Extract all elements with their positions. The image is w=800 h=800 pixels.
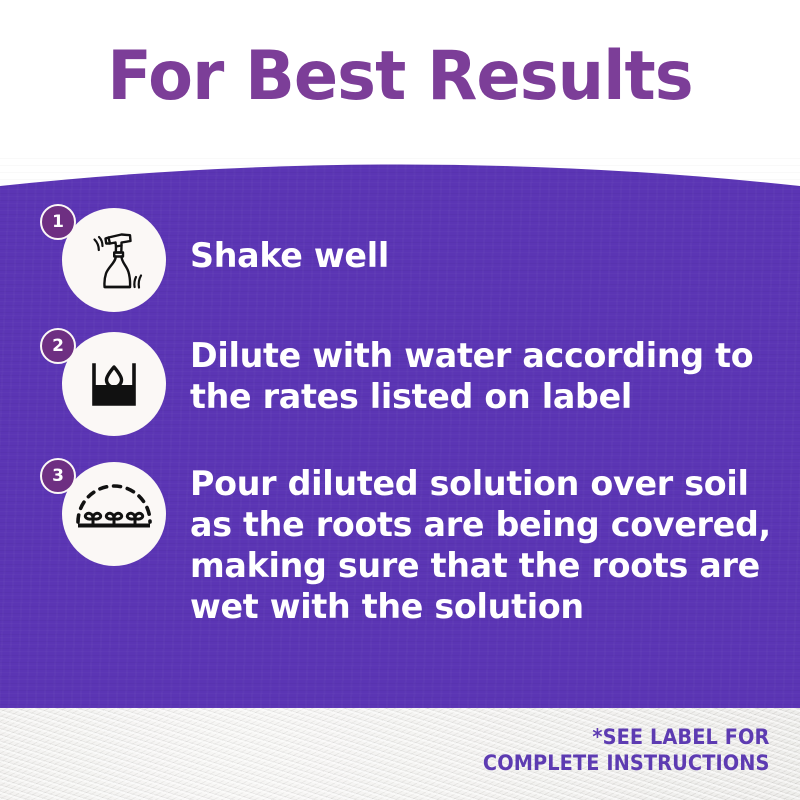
step-2-text: Dilute with water according to the rates… bbox=[190, 336, 753, 418]
for-best-results-infographic: For Best Results bbox=[0, 0, 800, 800]
step-item-3: 3 Pour diluted solution over soil as the… bbox=[62, 462, 783, 628]
step-1-number-badge: 1 bbox=[40, 204, 76, 240]
step-item-1: 1 Shake well bbox=[62, 208, 393, 312]
step-3-icon-circle bbox=[62, 462, 166, 566]
step-3-number-badge: 3 bbox=[40, 458, 76, 494]
step-2-number-badge: 2 bbox=[40, 328, 76, 364]
step-1-icon-circle bbox=[62, 208, 166, 312]
step-2-icon-circle bbox=[62, 332, 166, 436]
footer: *SEE LABEL FOR COMPLETE INSTRUCTIONS bbox=[0, 708, 800, 800]
step-1-icon-column: 1 bbox=[62, 208, 166, 312]
step-item-2: 2 Dilute with water according to the rat… bbox=[62, 332, 765, 436]
step-3-icon-column: 3 bbox=[62, 462, 166, 566]
soil-seedlings-icon bbox=[72, 472, 156, 556]
beaker-water-droplet-icon bbox=[75, 345, 153, 423]
footer-disclaimer: *SEE LABEL FOR COMPLETE INSTRUCTIONS bbox=[483, 724, 770, 776]
page-title: For Best Results bbox=[107, 43, 692, 111]
footer-disclaimer-line-2: COMPLETE INSTRUCTIONS bbox=[483, 750, 770, 776]
step-2-icon-column: 2 bbox=[62, 332, 166, 436]
header: For Best Results bbox=[0, 0, 800, 150]
step-3-text: Pour diluted solution over soil as the r… bbox=[190, 464, 771, 628]
footer-disclaimer-line-1: *SEE LABEL FOR bbox=[483, 724, 770, 750]
step-1-text: Shake well bbox=[190, 236, 389, 277]
spray-bottle-icon bbox=[75, 221, 153, 299]
